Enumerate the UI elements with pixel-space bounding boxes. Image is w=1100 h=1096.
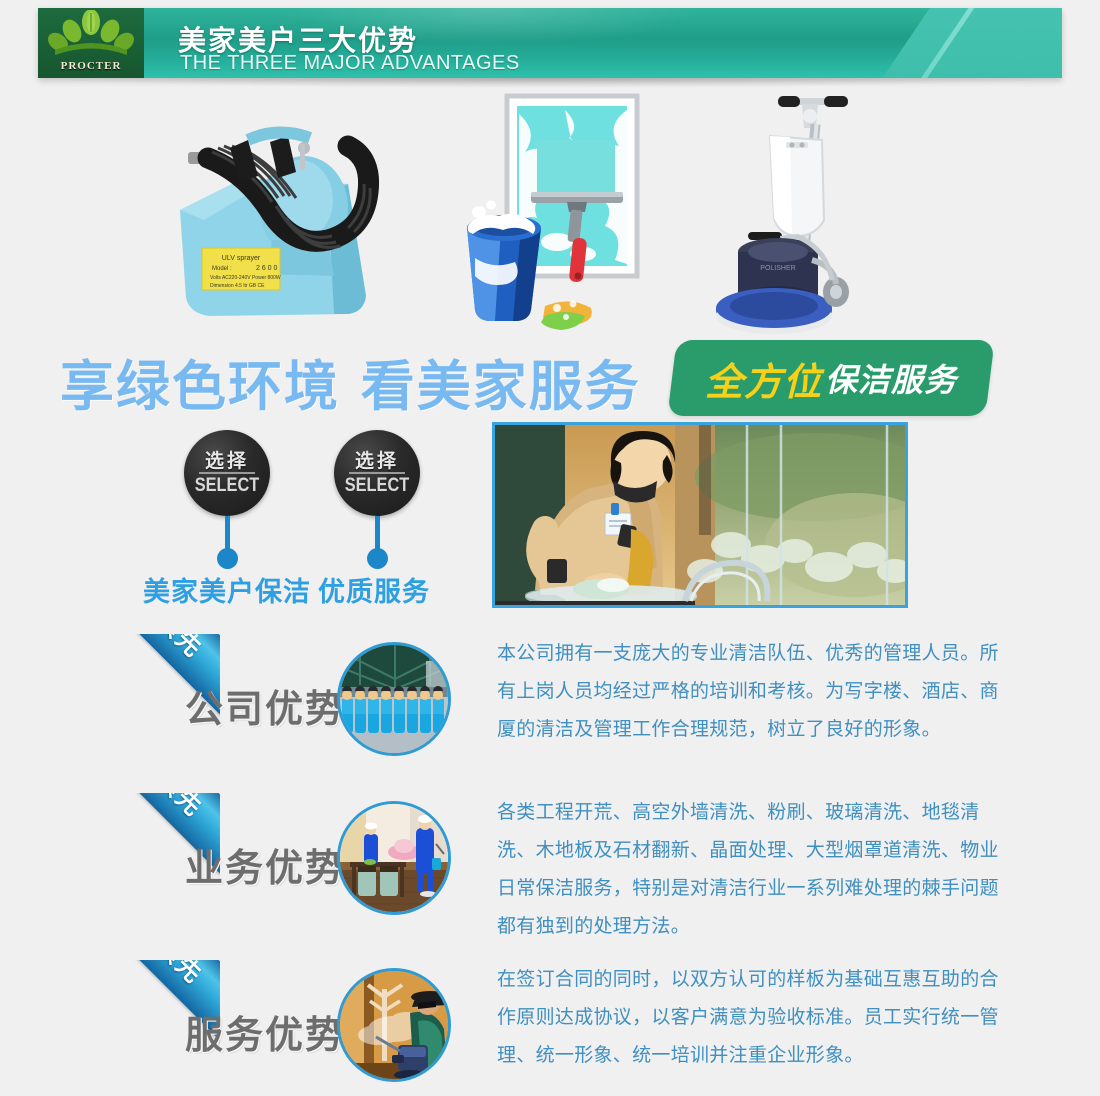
worker-photo [492, 422, 908, 608]
service-badge-highlight: 全方位 [705, 351, 822, 406]
advantage-text-3: 在签订合同的同时，以双方认可的样板为基础互惠互助的合作原则达成协议，以客户满意为… [497, 960, 1009, 1074]
header-drop-shadow [60, 78, 1040, 88]
logo-wordmark: PROCTER [38, 60, 144, 72]
select-pin-2: 选择 SELECT [334, 430, 420, 570]
pin-dot [217, 548, 238, 569]
advantage-row-1: 业内领先 公司优势 [0, 634, 1100, 784]
hero-title: 享绿色环境 看美家服务 [60, 342, 641, 421]
advantage-text-1: 本公司拥有一支庞大的专业清洁队伍、优秀的管理人员。所有上岗人员均经过严格的培训和… [497, 634, 1009, 748]
brand-logo: PROCTER [38, 8, 144, 78]
svg-text:2 6 0 0: 2 6 0 0 [256, 265, 278, 272]
pin-dot [367, 548, 388, 569]
svg-text:POLISHER: POLISHER [760, 265, 795, 272]
advantage-title-3: 服务优势 [185, 1004, 345, 1059]
select-divider [349, 472, 405, 474]
advantage-photo-1 [337, 642, 451, 756]
select-pin-2-label: 优质服务 [318, 570, 430, 609]
advantage-row-3: 业内领先 服务优势 [0, 960, 1100, 1096]
select-pin-2-cn: 选择 [334, 446, 420, 473]
svg-text:Volts AC220-240V Power 800W: Volts AC220-240V Power 800W [210, 275, 281, 281]
service-badge-rest: 保洁服务 [825, 355, 957, 401]
svg-text:Model :: Model : [212, 266, 232, 272]
svg-text:Dimension 4.5 ltr GB CE: Dimension 4.5 ltr GB CE [210, 283, 265, 289]
advantage-row-2: 业内领先 业务优势 [0, 793, 1100, 953]
select-pin-1-label: 美家美户保洁 [143, 570, 311, 609]
advantage-title-1: 公司优势 [185, 678, 345, 733]
product-image-floor-polisher: POLISHER [712, 84, 887, 339]
svg-text:ULV sprayer: ULV sprayer [222, 255, 261, 262]
service-badge: 全方位 保洁服务 [667, 340, 994, 416]
pin-stem [375, 516, 380, 552]
select-pin-2-en: SELECT [340, 475, 414, 497]
select-circle: 选择 SELECT [334, 430, 420, 516]
select-pin-1-en: SELECT [190, 475, 264, 497]
header-diagonal-shape [842, 8, 1062, 78]
select-pin-1: 选择 SELECT [184, 430, 270, 570]
product-image-ulv-sprayer: ULV sprayer Model : 2 6 0 0 Volts AC220-… [152, 100, 422, 340]
select-circle: 选择 SELECT [184, 430, 270, 516]
page-root: PROCTER 美家美户三大优势 THE THREE MAJOR ADVANTA… [0, 0, 1100, 1096]
pin-stem [225, 516, 230, 552]
advantage-text-2: 各类工程开荒、高空外墙清洗、粉刷、玻璃清洗、地毯清洗、木地板及石材翻新、晶面处理… [497, 793, 1009, 945]
advantage-photo-3 [337, 968, 451, 1082]
select-divider [199, 472, 255, 474]
advantage-photo-2 [337, 801, 451, 915]
header-bar: PROCTER 美家美户三大优势 THE THREE MAJOR ADVANTA… [38, 8, 1062, 78]
leaf-crown-icon [47, 10, 135, 62]
header-title-en: THE THREE MAJOR ADVANTAGES [180, 52, 520, 75]
product-image-window-cleaning [445, 92, 695, 342]
advantage-title-2: 业务优势 [185, 837, 345, 892]
select-pin-1-cn: 选择 [184, 446, 270, 473]
